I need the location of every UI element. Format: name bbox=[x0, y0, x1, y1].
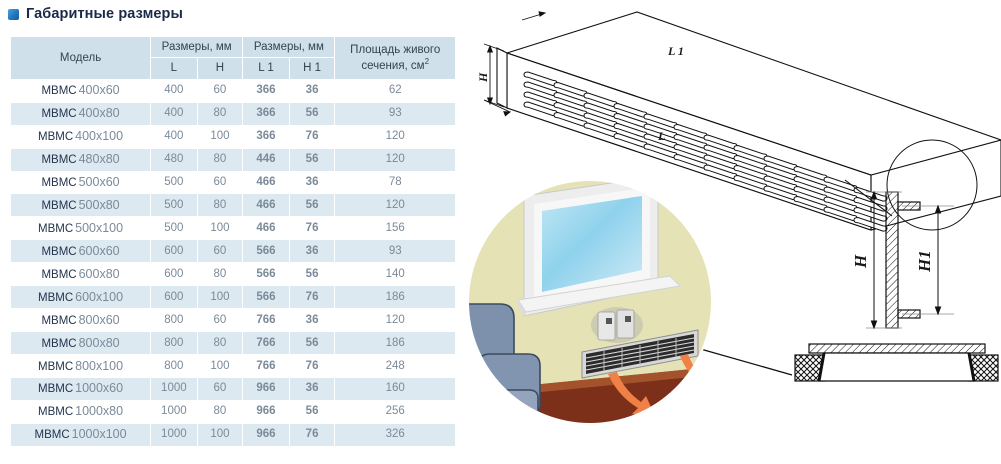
cell-h1: 56 bbox=[290, 149, 335, 171]
cell-area: 62 bbox=[335, 80, 455, 102]
model-prefix: МВМС bbox=[38, 406, 73, 418]
cell-area: 120 bbox=[335, 126, 455, 148]
cell-area: 78 bbox=[335, 172, 455, 194]
table-row: МВМС600x10060010056676186 bbox=[11, 286, 455, 308]
cell-l1: 966 bbox=[243, 401, 288, 423]
model-size: 1000x80 bbox=[75, 404, 123, 418]
column-header-dimensions-1: Размеры, мм bbox=[151, 37, 242, 57]
cell-h: 80 bbox=[198, 263, 243, 285]
table-row: МВМС400x60400603663662 bbox=[11, 80, 455, 102]
cell-h: 100 bbox=[198, 286, 243, 308]
isometric-dim-L-label: L bbox=[657, 129, 665, 143]
cell-model: МВМС800x80 bbox=[11, 332, 150, 354]
cell-l1: 966 bbox=[243, 378, 288, 400]
model-size: 400x60 bbox=[79, 83, 120, 97]
cell-h1: 36 bbox=[290, 80, 335, 102]
cell-h: 60 bbox=[198, 378, 243, 400]
cell-area: 120 bbox=[335, 194, 455, 216]
cell-h: 60 bbox=[198, 240, 243, 262]
model-prefix: МВМС bbox=[35, 429, 70, 441]
cell-l: 400 bbox=[151, 80, 197, 102]
cell-h1: 76 bbox=[290, 424, 335, 446]
cell-area: 93 bbox=[335, 240, 455, 262]
cell-h1: 76 bbox=[290, 355, 335, 377]
table-row: МВМС800x608006076636120 bbox=[11, 309, 455, 331]
model-size: 1000x100 bbox=[72, 427, 127, 441]
cell-l: 400 bbox=[151, 103, 197, 125]
column-header-free-area-superscript: 2 bbox=[425, 57, 429, 66]
cell-l1: 466 bbox=[243, 172, 288, 194]
column-header-H: H bbox=[198, 58, 243, 78]
page-header: Габаритные размеры bbox=[8, 6, 183, 22]
cell-h1: 36 bbox=[290, 240, 335, 262]
cell-model: МВМС500x80 bbox=[11, 194, 150, 216]
cell-area: 93 bbox=[335, 103, 455, 125]
model-size: 480x80 bbox=[79, 152, 120, 166]
cell-l1: 566 bbox=[243, 263, 288, 285]
cell-l1: 366 bbox=[243, 103, 288, 125]
table-row: МВМС500x805008046656120 bbox=[11, 194, 455, 216]
cell-h1: 76 bbox=[290, 126, 335, 148]
cell-area: 186 bbox=[335, 332, 455, 354]
cell-h: 80 bbox=[198, 332, 243, 354]
cell-l: 500 bbox=[151, 194, 197, 216]
cell-l: 500 bbox=[151, 217, 197, 239]
table-row: МВМС600x806008056656140 bbox=[11, 263, 455, 285]
model-size: 500x100 bbox=[75, 221, 123, 235]
cell-model: МВМС400x60 bbox=[11, 80, 150, 102]
table-row: МВМС1000x8010008096656256 bbox=[11, 401, 455, 423]
cell-h: 100 bbox=[198, 424, 243, 446]
cell-area: 120 bbox=[335, 149, 455, 171]
column-header-dimensions-2: Размеры, мм bbox=[243, 37, 334, 57]
cell-h1: 36 bbox=[290, 378, 335, 400]
table-row: МВМС400x10040010036676120 bbox=[11, 126, 455, 148]
cell-model: МВМС480x80 bbox=[11, 149, 150, 171]
cell-h: 80 bbox=[198, 149, 243, 171]
cell-model: МВМС1000x60 bbox=[11, 378, 150, 400]
model-size: 800x100 bbox=[75, 359, 123, 373]
cell-model: МВМС400x80 bbox=[11, 103, 150, 125]
table-header-row-group: Модель Размеры, мм Размеры, мм Площадь ж… bbox=[11, 37, 455, 57]
cell-h: 100 bbox=[198, 355, 243, 377]
cell-h1: 56 bbox=[290, 401, 335, 423]
cell-l: 1000 bbox=[151, 401, 197, 423]
model-prefix: МВМС bbox=[41, 85, 76, 97]
leader-line-to-plan-section bbox=[697, 348, 792, 375]
cell-l: 500 bbox=[151, 172, 197, 194]
cell-model: МВМС800x60 bbox=[11, 309, 150, 331]
model-prefix: МВМС bbox=[38, 292, 73, 304]
graphics-panel: H L 1 L bbox=[462, 0, 1001, 464]
model-prefix: МВМС bbox=[38, 223, 73, 235]
cell-model: МВМС1000x80 bbox=[11, 401, 150, 423]
cell-model: МВМС600x100 bbox=[11, 286, 150, 308]
cell-l1: 766 bbox=[243, 355, 288, 377]
model-size: 600x80 bbox=[79, 267, 120, 281]
column-header-L: L bbox=[151, 58, 197, 78]
cell-l: 400 bbox=[151, 126, 197, 148]
table-body: МВМС400x60400603663662МВМС400x8040080366… bbox=[11, 80, 455, 446]
cell-l1: 366 bbox=[243, 126, 288, 148]
cell-h: 80 bbox=[198, 194, 243, 216]
square-bullet-icon bbox=[8, 9, 19, 20]
table-row: МВМС400x80400803665693 bbox=[11, 103, 455, 125]
cell-l: 480 bbox=[151, 149, 197, 171]
cell-area: 156 bbox=[335, 217, 455, 239]
cell-l1: 366 bbox=[243, 80, 288, 102]
cell-area: 160 bbox=[335, 378, 455, 400]
cell-l1: 766 bbox=[243, 332, 288, 354]
cell-l: 600 bbox=[151, 240, 197, 262]
table-row: МВМС500x60500604663678 bbox=[11, 172, 455, 194]
cell-h1: 36 bbox=[290, 309, 335, 331]
cell-h: 100 bbox=[198, 217, 243, 239]
cell-model: МВМС500x100 bbox=[11, 217, 150, 239]
column-header-L1: L 1 bbox=[243, 58, 288, 78]
cell-area: 326 bbox=[335, 424, 455, 446]
section-dim-H-label: H bbox=[851, 254, 870, 269]
table-row: МВМС500x10050010046676156 bbox=[11, 217, 455, 239]
model-size: 600x60 bbox=[79, 244, 120, 258]
table-row: МВМС1000x6010006096636160 bbox=[11, 378, 455, 400]
isometric-dim-H-label: H bbox=[476, 72, 490, 83]
model-size: 400x100 bbox=[75, 129, 123, 143]
cell-l1: 446 bbox=[243, 149, 288, 171]
cell-l1: 566 bbox=[243, 286, 288, 308]
cell-model: МВМС600x60 bbox=[11, 240, 150, 262]
model-prefix: МВМС bbox=[41, 315, 76, 327]
cell-l: 800 bbox=[151, 332, 197, 354]
cell-l: 800 bbox=[151, 355, 197, 377]
page-title: Габаритные размеры bbox=[26, 6, 183, 22]
model-prefix: МВМС bbox=[38, 361, 73, 373]
model-size: 500x60 bbox=[79, 175, 120, 189]
table-header: Модель Размеры, мм Размеры, мм Площадь ж… bbox=[11, 37, 455, 79]
cell-h1: 76 bbox=[290, 217, 335, 239]
cell-h1: 36 bbox=[290, 172, 335, 194]
cell-h1: 56 bbox=[290, 103, 335, 125]
cell-l: 800 bbox=[151, 309, 197, 331]
cell-l1: 466 bbox=[243, 194, 288, 216]
cell-h: 100 bbox=[198, 126, 243, 148]
dimensions-table: Модель Размеры, мм Размеры, мм Площадь ж… bbox=[10, 36, 456, 447]
cell-area: 120 bbox=[335, 309, 455, 331]
cell-h: 60 bbox=[198, 309, 243, 331]
cell-model: МВМС600x80 bbox=[11, 263, 150, 285]
cell-area: 248 bbox=[335, 355, 455, 377]
plan-section-drawing bbox=[795, 344, 998, 381]
cell-l: 600 bbox=[151, 263, 197, 285]
model-prefix: МВМС bbox=[38, 383, 73, 395]
cell-model: МВМС800x100 bbox=[11, 355, 150, 377]
model-prefix: МВМС bbox=[41, 338, 76, 350]
model-size: 400x80 bbox=[79, 106, 120, 120]
model-size: 800x60 bbox=[79, 313, 120, 327]
column-header-model: Модель bbox=[11, 37, 150, 79]
cell-l: 1000 bbox=[151, 378, 197, 400]
model-prefix: МВМС bbox=[41, 269, 76, 281]
model-prefix: МВМС bbox=[41, 154, 76, 166]
cell-h1: 56 bbox=[290, 332, 335, 354]
cell-h1: 76 bbox=[290, 286, 335, 308]
model-prefix: МВМС bbox=[41, 200, 76, 212]
model-prefix: МВМС bbox=[41, 177, 76, 189]
model-size: 600x100 bbox=[75, 290, 123, 304]
cell-h: 60 bbox=[198, 172, 243, 194]
cell-l: 1000 bbox=[151, 424, 197, 446]
column-header-H1: H 1 bbox=[290, 58, 335, 78]
model-size: 800x80 bbox=[79, 336, 120, 350]
cell-h: 80 bbox=[198, 401, 243, 423]
room-installation-illustration bbox=[462, 176, 724, 428]
table-row: МВМС1000x100100010096676326 bbox=[11, 424, 455, 446]
cell-h1: 56 bbox=[290, 263, 335, 285]
model-prefix: МВМС bbox=[41, 108, 76, 120]
cell-h1: 56 bbox=[290, 194, 335, 216]
table-row: МВМС800x808008076656186 bbox=[11, 332, 455, 354]
cell-model: МВМС1000x100 bbox=[11, 424, 150, 446]
model-prefix: МВМС bbox=[38, 131, 73, 143]
cell-area: 186 bbox=[335, 286, 455, 308]
cell-area: 256 bbox=[335, 401, 455, 423]
model-size: 1000x60 bbox=[75, 381, 123, 395]
section-dim-H1-label: H1 bbox=[915, 250, 934, 273]
cell-l1: 966 bbox=[243, 424, 288, 446]
cell-h: 60 bbox=[198, 80, 243, 102]
column-header-free-area: Площадь живого сечения, см2 bbox=[335, 37, 455, 79]
cell-h: 80 bbox=[198, 103, 243, 125]
isometric-dim-L1-label: L 1 bbox=[667, 44, 684, 58]
model-prefix: МВМС bbox=[41, 246, 76, 258]
cell-area: 140 bbox=[335, 263, 455, 285]
table-row: МВМС600x60600605663693 bbox=[11, 240, 455, 262]
table-row: МВМС800x10080010076676248 bbox=[11, 355, 455, 377]
cell-l1: 766 bbox=[243, 309, 288, 331]
cell-model: МВМС500x60 bbox=[11, 172, 150, 194]
cell-model: МВМС400x100 bbox=[11, 126, 150, 148]
table-row: МВМС480x804808044656120 bbox=[11, 149, 455, 171]
cell-l1: 466 bbox=[243, 217, 288, 239]
model-size: 500x80 bbox=[79, 198, 120, 212]
cell-l1: 566 bbox=[243, 240, 288, 262]
cell-l: 600 bbox=[151, 286, 197, 308]
